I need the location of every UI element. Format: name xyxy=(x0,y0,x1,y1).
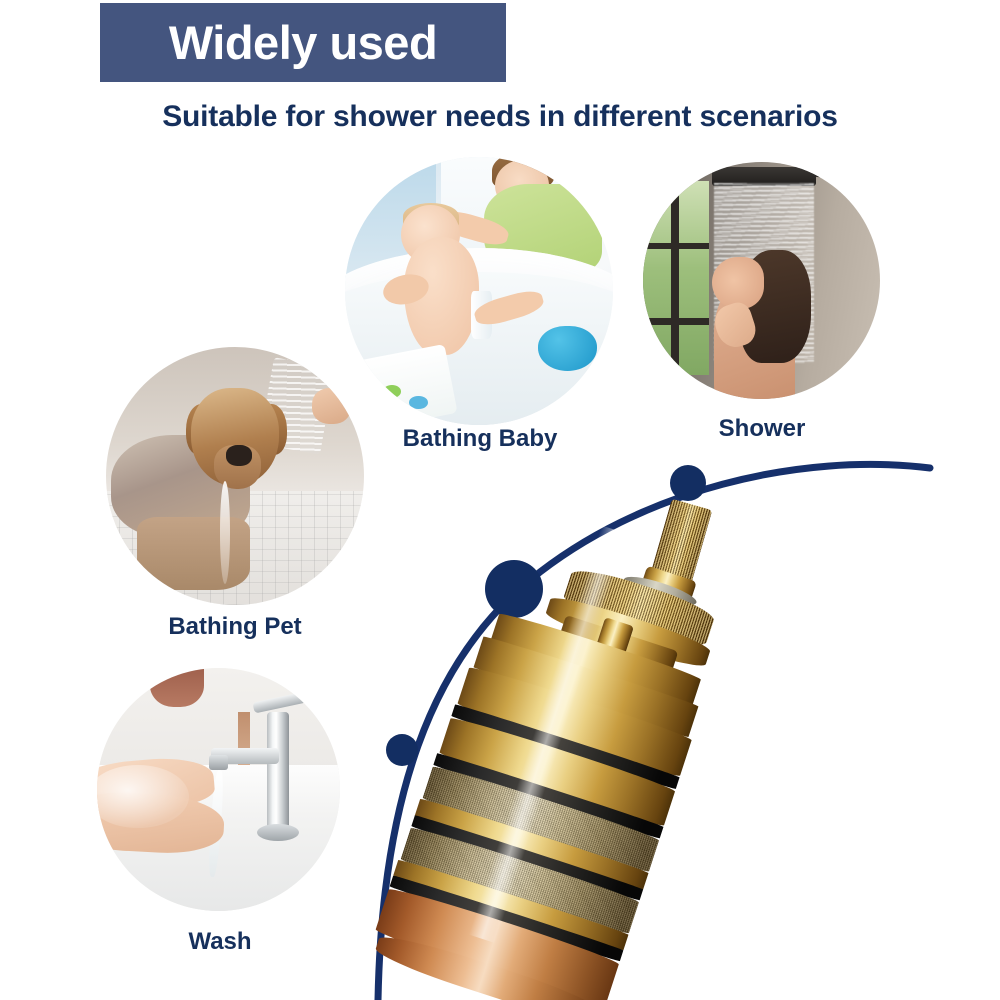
scenario-image-wash xyxy=(97,668,340,911)
scenario-image-shower xyxy=(643,162,880,399)
arc-node-bottom xyxy=(386,734,418,766)
blue-bath-toy xyxy=(538,326,597,372)
cartridge-assembly xyxy=(383,498,754,984)
faucet-aerator xyxy=(209,755,228,770)
scenario-label-shower: Shower xyxy=(597,415,927,443)
wall-accent-left xyxy=(150,668,203,707)
towel-motif-3 xyxy=(409,396,428,409)
shower-scene xyxy=(643,162,880,399)
scenario-label-wash: Wash xyxy=(55,928,385,956)
woman-face xyxy=(712,257,764,309)
product-image-thermostatic-cartridge xyxy=(440,470,860,980)
faucet-column xyxy=(267,712,289,834)
dripping-water xyxy=(220,481,230,584)
window-frame-horizontal-top xyxy=(643,243,709,249)
faucet-base xyxy=(257,824,298,841)
dog-nose xyxy=(226,445,252,466)
scenario-image-bathing-pet xyxy=(106,347,364,605)
page-title: Widely used xyxy=(169,19,437,66)
scenario-label-bathing-pet: Bathing Pet xyxy=(70,613,400,641)
baby-scene xyxy=(345,157,613,425)
window-frame-horizontal-bottom xyxy=(643,318,709,324)
dog-legs xyxy=(137,517,251,589)
title-banner: Widely used xyxy=(100,3,506,82)
page-subtitle: Suitable for shower needs in different s… xyxy=(0,100,1000,134)
scenario-image-bathing-baby xyxy=(345,157,613,425)
towel-motif-4 xyxy=(369,401,385,412)
window-frame-vertical xyxy=(671,181,678,375)
groomer-hand xyxy=(312,388,351,424)
wash-scene xyxy=(97,668,340,911)
widely-used-infographic-page: Widely used Suitable for shower needs in… xyxy=(0,0,1000,1000)
pet-scene xyxy=(106,347,364,605)
